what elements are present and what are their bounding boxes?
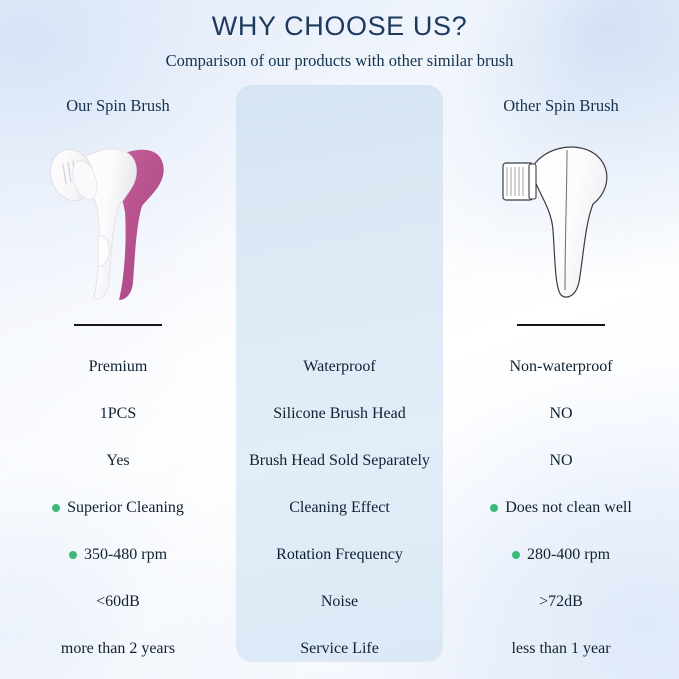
- value-cell-theirs-6: less than 1 year: [505, 640, 616, 658]
- column-our-product: Our Spin Brush: [0, 0, 236, 679]
- table-row: NO: [443, 437, 679, 484]
- product-image-theirs: [443, 130, 679, 315]
- value-cell-ours-0: Premium: [83, 358, 154, 376]
- feature-cell-0-text: Waterproof: [303, 358, 375, 376]
- brush-head-collar: [529, 164, 536, 199]
- value-cell-theirs-3-text: Does not clean well: [505, 499, 632, 517]
- feature-cell-2-text: Brush Head Sold Separately: [249, 452, 430, 469]
- table-row: Premium: [0, 343, 236, 390]
- value-cell-theirs-4: 280-400 rpm: [506, 546, 616, 564]
- feature-cell-6: Service Life: [294, 640, 385, 658]
- bullet-dot-icon: [512, 551, 520, 559]
- table-row: Rotation Frequency: [236, 531, 443, 578]
- value-cell-theirs-1: NO: [543, 405, 578, 423]
- feature-cell-5: Noise: [315, 593, 364, 611]
- table-row: Service Life: [236, 625, 443, 672]
- feature-cell-2: Brush Head Sold Separately: [243, 452, 436, 469]
- divider-rule-ours: [74, 324, 162, 326]
- feature-cell-4: Rotation Frequency: [270, 546, 409, 564]
- table-row: Noise: [236, 578, 443, 625]
- column-header-theirs: Other Spin Brush: [443, 96, 679, 116]
- value-cell-ours-5: <60dB: [90, 593, 146, 611]
- feature-cell-5-text: Noise: [321, 593, 358, 611]
- feature-list: WaterproofSilicone Brush HeadBrush Head …: [236, 343, 443, 672]
- table-row: NO: [443, 390, 679, 437]
- value-cell-ours-4-text: 350-480 rpm: [84, 546, 167, 564]
- other-spin-brush-illustration: [479, 130, 644, 312]
- table-row: 1PCS: [0, 390, 236, 437]
- column-features: WaterproofSilicone Brush HeadBrush Head …: [236, 0, 443, 679]
- column-other-product: Other Spin Brush: [443, 0, 679, 679]
- table-row: Does not clean well: [443, 484, 679, 531]
- value-cell-ours-4: 350-480 rpm: [63, 546, 173, 564]
- table-row: Non-waterproof: [443, 343, 679, 390]
- table-row: Cleaning Effect: [236, 484, 443, 531]
- bullet-dot-icon: [69, 551, 77, 559]
- table-row: <60dB: [0, 578, 236, 625]
- bullet-dot-icon: [52, 504, 60, 512]
- value-cell-ours-0-text: Premium: [89, 358, 148, 376]
- feature-cell-3-text: Cleaning Effect: [289, 499, 390, 517]
- value-cell-theirs-0-text: Non-waterproof: [509, 358, 612, 376]
- column-header-ours: Our Spin Brush: [0, 96, 236, 116]
- bullet-dot-icon: [490, 504, 498, 512]
- value-list-ours: Premium1PCSYesSuperior Cleaning350-480 r…: [0, 343, 236, 672]
- feature-cell-3: Cleaning Effect: [283, 499, 396, 517]
- table-row: Brush Head Sold Separately: [236, 437, 443, 484]
- heading-block: WHY CHOOSE US? Comparison of our product…: [0, 12, 679, 70]
- product-image-ours: [0, 130, 236, 315]
- value-cell-ours-1: 1PCS: [94, 405, 142, 423]
- value-cell-ours-6: more than 2 years: [55, 640, 181, 658]
- value-cell-ours-5-text: <60dB: [96, 593, 140, 611]
- page-subtitle: Comparison of our products with other si…: [0, 51, 679, 71]
- table-row: more than 2 years: [0, 625, 236, 672]
- value-cell-theirs-2: NO: [543, 452, 578, 470]
- value-cell-theirs-1-text: NO: [549, 405, 572, 423]
- value-list-theirs: Non-waterproofNONODoes not clean well280…: [443, 343, 679, 672]
- value-cell-theirs-3: Does not clean well: [484, 499, 638, 517]
- table-row: less than 1 year: [443, 625, 679, 672]
- handle-body-outline: [531, 147, 607, 297]
- value-cell-theirs-4-text: 280-400 rpm: [527, 546, 610, 564]
- feature-cell-0: Waterproof: [297, 358, 381, 376]
- feature-cell-4-text: Rotation Frequency: [276, 546, 403, 564]
- value-cell-ours-3-text: Superior Cleaning: [67, 499, 184, 517]
- value-cell-ours-6-text: more than 2 years: [61, 640, 175, 658]
- value-cell-theirs-0: Non-waterproof: [503, 358, 618, 376]
- table-row: Superior Cleaning: [0, 484, 236, 531]
- our-spin-brush-illustration: [36, 130, 201, 312]
- value-cell-ours-2-text: Yes: [106, 452, 129, 470]
- table-row: 280-400 rpm: [443, 531, 679, 578]
- value-cell-theirs-5: >72dB: [533, 593, 589, 611]
- value-cell-theirs-2-text: NO: [549, 452, 572, 470]
- table-row: Silicone Brush Head: [236, 390, 443, 437]
- table-row: Waterproof: [236, 343, 443, 390]
- page-title: WHY CHOOSE US?: [0, 12, 679, 42]
- feature-cell-1: Silicone Brush Head: [267, 405, 411, 423]
- table-row: >72dB: [443, 578, 679, 625]
- table-row: Yes: [0, 437, 236, 484]
- value-cell-theirs-6-text: less than 1 year: [511, 640, 610, 658]
- value-cell-ours-2: Yes: [100, 452, 135, 470]
- value-cell-theirs-5-text: >72dB: [539, 593, 583, 611]
- feature-cell-6-text: Service Life: [300, 640, 379, 658]
- table-row: 350-480 rpm: [0, 531, 236, 578]
- comparison-infographic: WHY CHOOSE US? Comparison of our product…: [0, 0, 679, 679]
- feature-cell-1-text: Silicone Brush Head: [273, 405, 405, 423]
- value-cell-ours-1-text: 1PCS: [100, 405, 136, 423]
- divider-rule-theirs: [517, 324, 605, 326]
- value-cell-ours-3: Superior Cleaning: [46, 499, 190, 517]
